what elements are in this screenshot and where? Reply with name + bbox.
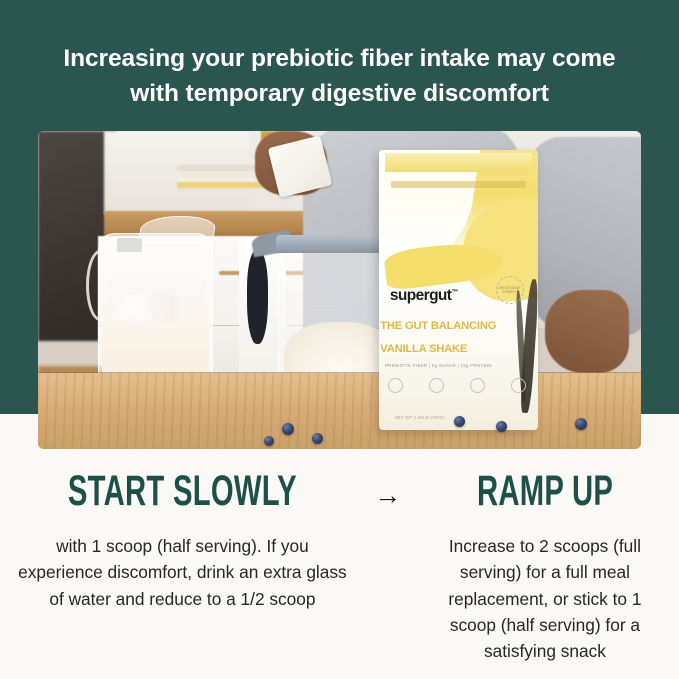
bag-claims-strip: PREBIOTIC FIBER | 0g SUGAR | 15g PROTEIN — [385, 363, 538, 368]
blender-control-slot — [247, 251, 268, 344]
steps-section: START SLOWLY with 1 scoop (half serving)… — [0, 470, 679, 664]
balance-icon — [511, 378, 526, 393]
bag-zipper — [391, 181, 525, 188]
infographic-page: Increasing your prebiotic fiber intake m… — [0, 0, 679, 679]
bag-icon-row — [388, 378, 525, 393]
fiber-icon — [388, 378, 403, 393]
step-1-body: with 1 scoop (half serving). If you expe… — [14, 533, 351, 612]
person-resting-hand — [545, 290, 629, 373]
step-2-body: Increase to 2 scoops (full serving) for … — [425, 533, 665, 664]
bag-title-line-1: THE GUT BALANCING — [380, 319, 538, 333]
bag-brand-name: supergut™ — [390, 287, 458, 305]
protein-icon — [470, 378, 485, 393]
pitcher-lid-clip — [117, 238, 142, 251]
supergut-product-bag: supergut™ RESISTANT STARCH THE GUT BALAN… — [379, 150, 539, 430]
arrow-right-icon: → — [365, 470, 411, 509]
step-ramp-up: RAMP UP Increase to 2 scoops (full servi… — [411, 470, 679, 664]
blueberry — [454, 416, 465, 427]
resistant-starch-badge: RESISTANT STARCH — [496, 276, 524, 304]
step-2-heading: RAMP UP — [463, 470, 626, 513]
step-start-slowly: START SLOWLY with 1 scoop (half serving)… — [0, 470, 365, 612]
shake-foam — [105, 294, 197, 325]
product-photo: supergut™ RESISTANT STARCH THE GUT BALAN… — [38, 131, 641, 449]
bag-net-weight: NET WT 1.65LB (750G) — [395, 415, 446, 420]
bag-title-line-2: VANILLA SHAKE — [380, 342, 538, 356]
blueberry — [496, 421, 507, 432]
page-headline: Increasing your prebiotic fiber intake m… — [40, 42, 640, 112]
trademark-symbol: ™ — [451, 289, 457, 296]
blueberry — [264, 436, 274, 446]
sugar-icon — [429, 378, 444, 393]
photo-scene: supergut™ RESISTANT STARCH THE GUT BALAN… — [38, 131, 641, 449]
bag-top-seal — [385, 153, 532, 173]
brand-text: supergut — [390, 287, 452, 304]
blueberry — [282, 423, 294, 435]
cutting-board — [38, 373, 641, 449]
blueberry — [575, 418, 587, 430]
step-1-heading: START SLOWLY — [68, 470, 297, 513]
